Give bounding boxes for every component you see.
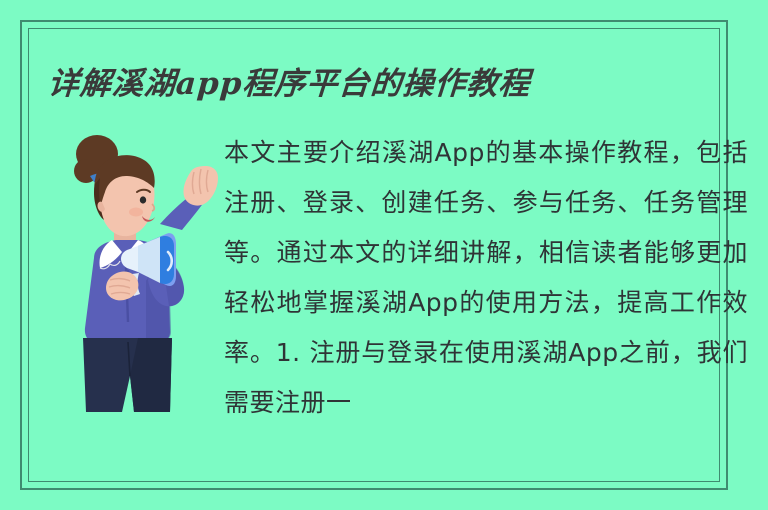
- page-title: 详解溪湖app程序平台的操作教程: [46, 62, 709, 106]
- article-body: 本文主要介绍溪湖App的基本操作教程，包括注册、登录、创建任务、参与任务、任务管…: [224, 128, 748, 416]
- illustration-woman-with-megaphone: [42, 126, 222, 412]
- article-card: 详解溪湖app程序平台的操作教程: [0, 0, 768, 510]
